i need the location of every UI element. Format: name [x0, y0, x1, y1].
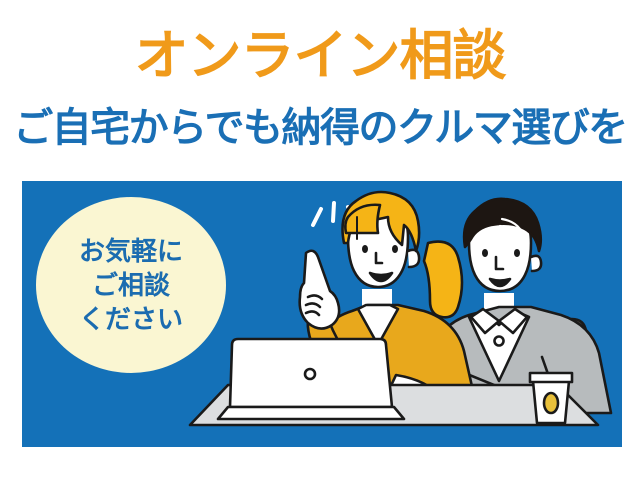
- page-title: オンライン相談: [0, 26, 640, 86]
- badge-line-3: ください: [79, 302, 183, 336]
- laptop: [218, 339, 404, 419]
- badge-line-2: ご相談: [92, 268, 170, 302]
- badge-line-1: お気軽に: [79, 234, 183, 268]
- page-subtitle: ご自宅からでも納得のクルマ選びを: [0, 105, 640, 151]
- coffee-cup: [530, 373, 572, 423]
- status-badge: お気軽に ご相談 ください: [36, 197, 226, 373]
- illustration-panel: お気軽に ご相談 ください: [22, 181, 622, 447]
- online-consultation-banner: オンライン相談 ご自宅からでも納得のクルマ選びを: [0, 0, 640, 480]
